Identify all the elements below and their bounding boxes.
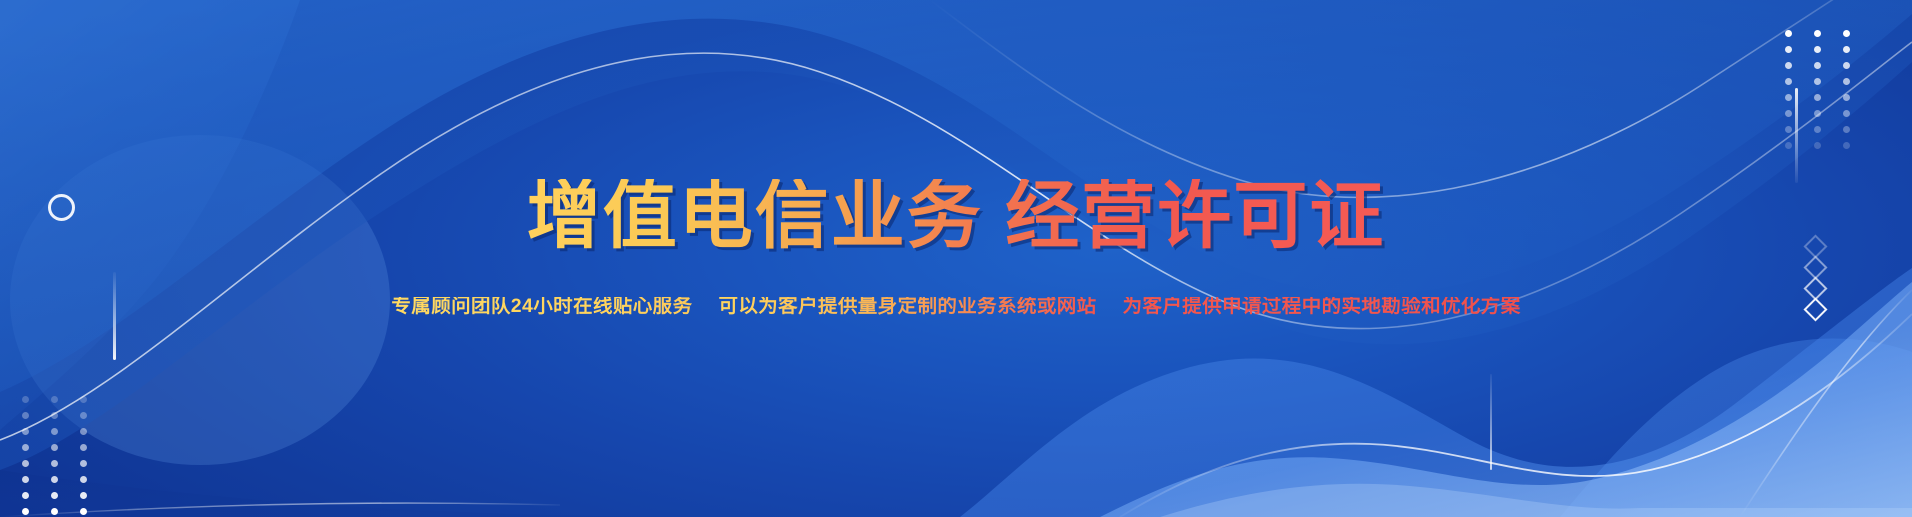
banner-subtitle: 专属顾问团队24小时在线贴心服务 可以为客户提供量身定制的业务系统或网站 为客户… [391, 297, 1520, 317]
banner-headline: 增值电信业务 经营许可证 [527, 179, 1386, 253]
promotional-banner: 增值电信业务 经营许可证 专属顾问团队24小时在线贴心服务 可以为客户提供量身定… [0, 0, 1912, 517]
subtitle-segment-1: 专属顾问团队24小时在线贴心服务 [391, 297, 692, 317]
subtitle-segment-2: 可以为客户提供量身定制的业务系统或网站 [718, 297, 1096, 317]
banner-content: 增值电信业务 经营许可证 专属顾问团队24小时在线贴心服务 可以为客户提供量身定… [0, 0, 1912, 517]
subtitle-segment-3: 为客户提供申请过程中的实地勘验和优化方案 [1123, 297, 1521, 317]
